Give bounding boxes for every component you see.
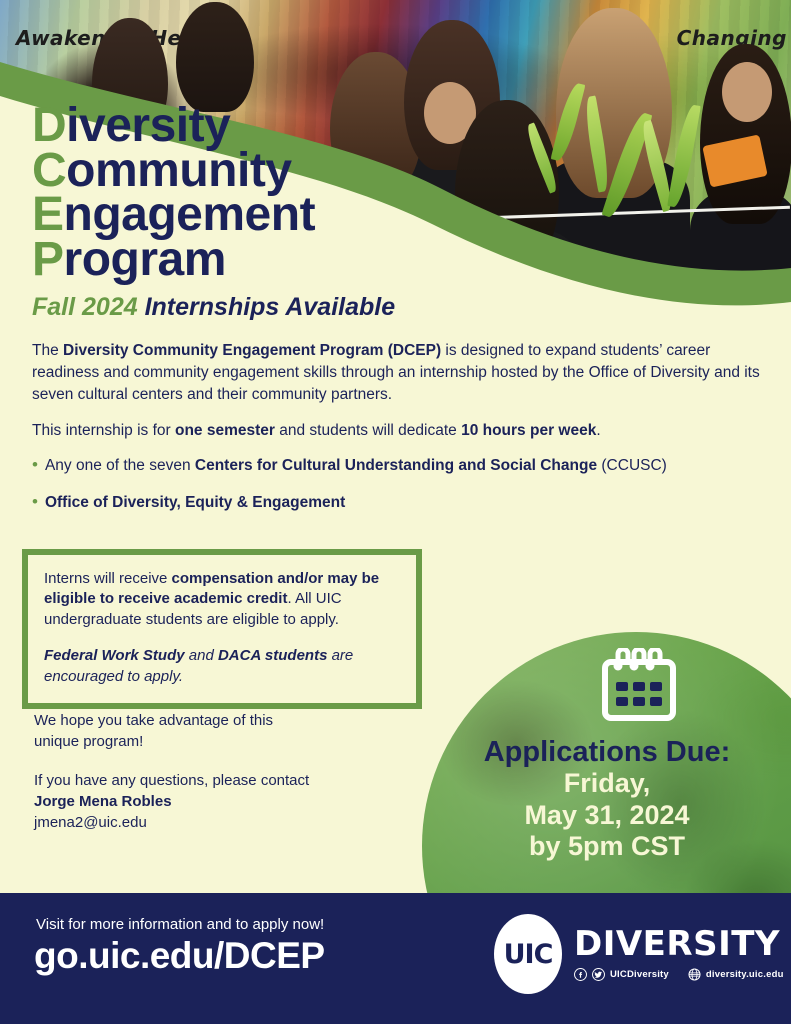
footer-url[interactable]: go.uic.edu/DCEP: [34, 935, 325, 977]
deadline-time: by 5pm CST: [422, 831, 791, 862]
closing-and-contact: We hope you take advantage of this uniqu…: [34, 710, 414, 833]
deadline-day: Friday,: [422, 768, 791, 799]
intro-pre: The: [32, 342, 63, 359]
commitment-post: .: [596, 422, 600, 439]
list-item: • Any one of the seven Centers for Cultu…: [32, 456, 762, 477]
footer-website[interactable]: diversity.uic.edu: [706, 969, 784, 980]
headline-line-3: Engagement: [32, 193, 315, 238]
headline-line-2: Community: [32, 149, 315, 194]
page-title: Diversity Community Engagement Program: [32, 104, 315, 283]
bullet-1-post: (CCUSC): [597, 457, 667, 474]
deadline-date: May 31, 2024: [422, 800, 791, 831]
uic-logo-mark: UIC: [494, 914, 562, 994]
callout-paragraph-1: Interns will receive compensation and/or…: [44, 569, 400, 630]
headline-initial-p: P: [32, 233, 64, 286]
deadline-text: Applications Due: Friday, May 31, 2024 b…: [422, 736, 791, 862]
bullet-2-bold: Office of Diversity, Equity & Engagement: [45, 494, 345, 511]
headline-line-1: Diversity: [32, 104, 315, 149]
subtitle: Fall 2024 Internships Available: [32, 293, 395, 322]
dcep-flyer: Awakening Hearts Changing Diversity Comm…: [0, 0, 791, 1024]
subtitle-term: Fall 2024: [32, 293, 138, 321]
commitment-pre: This internship is for: [32, 422, 175, 439]
facebook-icon[interactable]: [574, 968, 587, 981]
commitment-paragraph: This internship is for one semester and …: [32, 420, 762, 442]
globe-icon[interactable]: [688, 968, 701, 981]
bullet-1-bold: Centers for Cultural Understanding and S…: [195, 457, 597, 474]
callout-2-daca: DACA students: [218, 647, 327, 664]
calendar-icon: [600, 648, 678, 722]
closing-line-1: We hope you take advantage of this: [34, 710, 414, 731]
uic-diversity-logo: UIC DIVERSITY UICDiversity: [494, 914, 784, 994]
callout-paragraph-2: Federal Work Study and DACA students are…: [44, 646, 400, 687]
contact-intro: If you have any questions, please contac…: [34, 770, 414, 791]
deadline-title: Applications Due:: [422, 736, 791, 768]
bullet-dot-icon: •: [32, 493, 38, 511]
callout-2-fws: Federal Work Study: [44, 647, 185, 664]
contact-email[interactable]: jmena2@uic.edu: [34, 812, 414, 833]
footer-visit-text: Visit for more information and to apply …: [36, 916, 324, 933]
commitment-duration: one semester: [175, 422, 275, 439]
uic-logo-text: UIC: [504, 939, 553, 970]
bullet-dot-icon: •: [32, 456, 38, 474]
headline-line-4: Program: [32, 238, 315, 283]
list-item: • Office of Diversity, Equity & Engageme…: [32, 493, 762, 514]
callout-2-mid: and: [185, 647, 218, 664]
commitment-hours: 10 hours per week: [461, 422, 596, 439]
footer: Visit for more information and to apply …: [0, 893, 791, 1024]
commitment-mid: and students will dedicate: [275, 422, 461, 439]
intro-paragraph: The Diversity Community Engagement Progr…: [32, 340, 762, 406]
social-handle[interactable]: UICDiversity: [610, 969, 669, 980]
closing-line-2: unique program!: [34, 731, 414, 752]
social-links: UICDiversity diversity.uic.edu: [574, 968, 784, 981]
compensation-callout: Interns will receive compensation and/or…: [22, 549, 422, 709]
subtitle-availability: Internships Available: [145, 293, 396, 321]
bullet-1-pre: Any one of the seven: [45, 457, 195, 474]
logo-word-diversity: DIVERSITY: [574, 927, 784, 961]
intro-program-name: Diversity Community Engagement Program (…: [63, 342, 441, 359]
headline-word-program: rogram: [64, 233, 226, 286]
callout-1-pre: Interns will receive: [44, 570, 172, 587]
body-copy: The Diversity Community Engagement Progr…: [32, 340, 762, 530]
twitter-icon[interactable]: [592, 968, 605, 981]
contact-name: Jorge Mena Robles: [34, 791, 414, 812]
